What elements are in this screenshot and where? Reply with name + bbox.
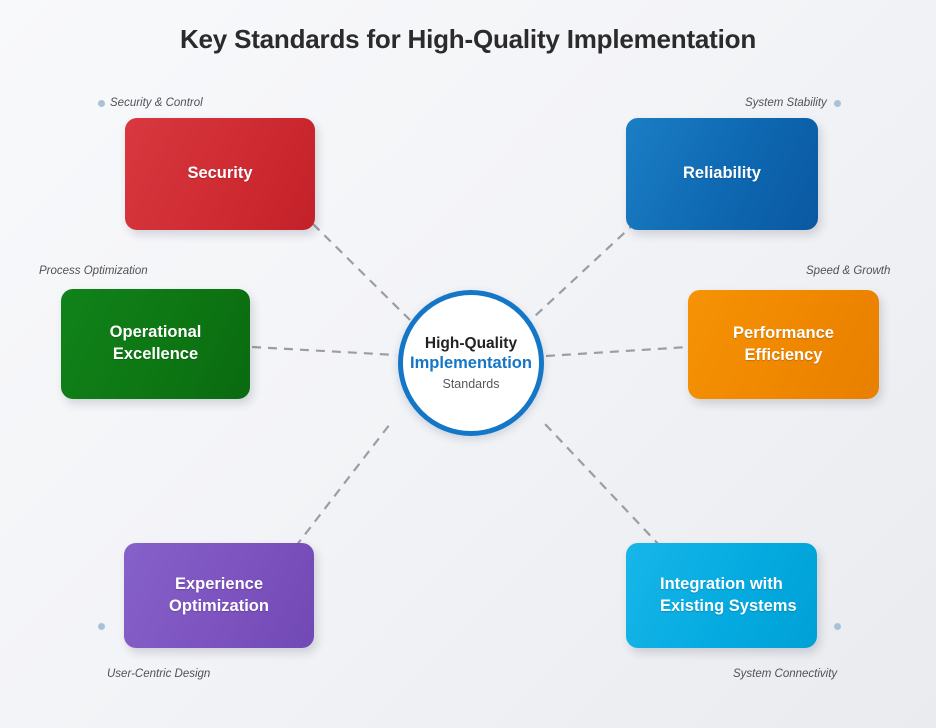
caption-system-connectivity: System Connectivity [733,668,837,680]
bullet-dot-icon-integration [834,623,841,630]
node-security-label: Security [187,163,252,185]
node-operational-excellence[interactable]: Operational Excellence [61,289,250,399]
node-operational-excellence-label: Operational Excellence [110,322,202,366]
diagram-canvas: Key Standards for High-Quality Implement… [0,0,936,728]
node-performance-efficiency-label: Performance Efficiency [733,323,834,367]
caption-process-optimization: Process Optimization [39,265,148,277]
hub-line-3: Standards [443,377,500,391]
caption-speed-growth: Speed & Growth [806,265,890,277]
node-experience-optimization-label: Experience Optimization [169,574,269,618]
bullet-dot-icon-stability [834,100,841,107]
hub-line-1: High-Quality [425,335,517,353]
node-experience-optimization[interactable]: Experience Optimization [124,543,314,648]
bullet-dot-icon-experience [98,623,105,630]
connector-reliability [535,222,636,316]
caption-user-centric-design: User-Centric Design [107,668,210,680]
connector-security [313,224,410,320]
bullet-dot-icon-security [98,100,105,107]
caption-system-stability: System Stability [745,97,827,109]
connector-performance [546,347,688,356]
hub-node[interactable]: High-Quality Implementation Standards [398,290,544,436]
node-performance-efficiency[interactable]: Performance Efficiency [688,290,879,399]
caption-security-control: Security & Control [110,97,203,109]
hub-line-2: Implementation [410,354,532,374]
node-reliability[interactable]: Reliability [626,118,818,230]
node-security[interactable]: Security [125,118,315,230]
node-integration-existing-systems-label: Integration with Existing Systems [660,574,797,618]
node-integration-existing-systems[interactable]: Integration with Existing Systems [626,543,817,648]
connector-operational [252,347,396,355]
node-reliability-label: Reliability [683,163,761,185]
